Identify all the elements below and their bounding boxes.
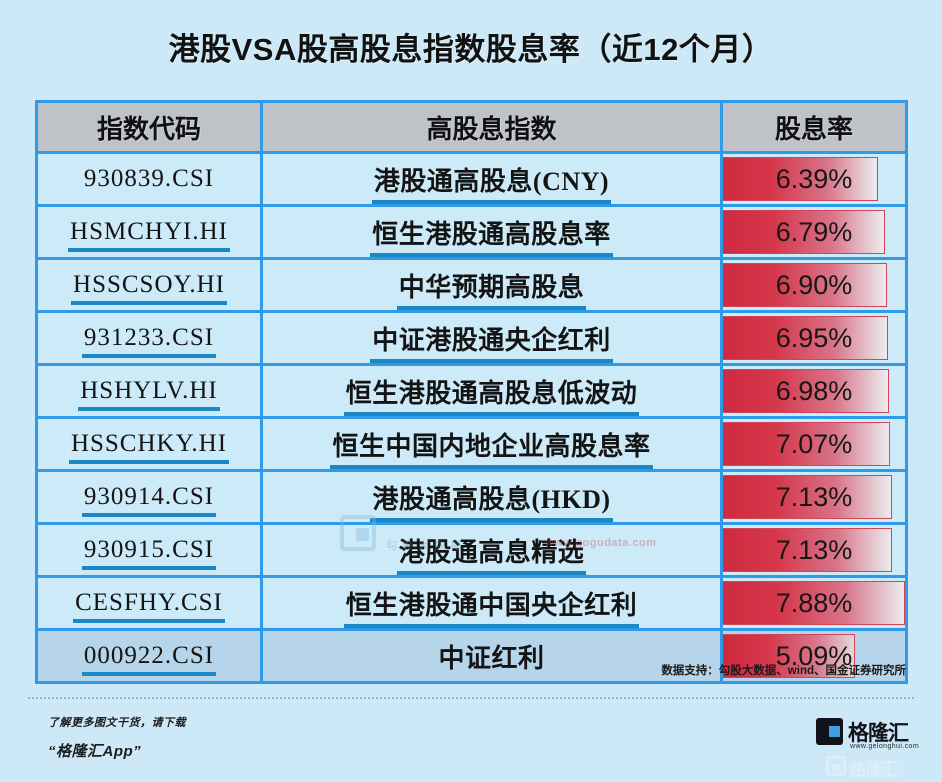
promo-line-1: 了解更多图文干货，请下载: [48, 714, 186, 730]
cell-index-code: HSHYLV.HI: [37, 365, 262, 418]
app-promo: 了解更多图文干货，请下载 “格隆汇App”: [48, 714, 186, 761]
table-row: HSSCHKY.HI恒生中国内地企业高股息率7.07%: [37, 418, 907, 471]
index-name-text: 中证红利: [438, 638, 544, 675]
footer-divider: [28, 697, 914, 699]
cell-index-name: 中证港股通央企红利: [262, 312, 722, 365]
index-code-text: HSSCHKY.HI: [71, 430, 227, 458]
index-code-text: CESFHY.CSI: [75, 589, 223, 617]
cell-index-code: 930915.CSI: [37, 524, 262, 577]
cell-dividend-yield: 7.88%: [722, 577, 907, 630]
index-name-text: 恒生中国内地企业高股息率: [332, 426, 650, 463]
cell-index-name: 中证红利: [262, 630, 722, 683]
index-code-text: 930914.CSI: [84, 483, 214, 511]
table-row: 000922.CSI中证红利5.09%: [37, 630, 907, 683]
column-header-index-name: 高股息指数: [262, 102, 722, 153]
table-row: 931233.CSI中证港股通央企红利6.95%: [37, 312, 907, 365]
dividend-yield-table: 指数代码 高股息指数 股息率 930839.CSI港股通高股息(CNY)6.39…: [35, 100, 905, 684]
gelonghui-logo-watermark: 格隆汇: [820, 756, 916, 782]
index-code-text: 930839.CSI: [84, 165, 214, 193]
column-header-dividend-yield: 股息率: [722, 102, 907, 153]
yield-value-text: 6.95%: [723, 313, 905, 363]
promo-line-2: “格隆汇App”: [48, 740, 186, 761]
cell-index-name: 恒生港股通中国央企红利: [262, 577, 722, 630]
cell-dividend-yield: 6.79%: [722, 206, 907, 259]
cell-index-code: 000922.CSI: [37, 630, 262, 683]
index-name-text: 恒生港股通高股息率: [372, 214, 611, 251]
cell-index-code: 931233.CSI: [37, 312, 262, 365]
yield-value-text: 7.07%: [723, 419, 905, 469]
yield-value-text: 7.88%: [723, 578, 905, 628]
yield-value-text: 7.13%: [723, 472, 905, 522]
cell-dividend-yield: 6.90%: [722, 259, 907, 312]
index-name-text: 中华预期高股息: [399, 267, 585, 304]
table-row: HSSCSOY.HI中华预期高股息6.90%: [37, 259, 907, 312]
cell-index-name: 中华预期高股息: [262, 259, 722, 312]
table-row: 930839.CSI港股通高股息(CNY)6.39%: [37, 153, 907, 206]
index-code-text: HSHYLV.HI: [80, 377, 218, 405]
cell-dividend-yield: 7.07%: [722, 418, 907, 471]
index-name-text: 恒生港股通高股息低波动: [346, 373, 638, 410]
cell-index-code: HSSCSOY.HI: [37, 259, 262, 312]
cell-dividend-yield: 6.95%: [722, 312, 907, 365]
yield-value-text: 6.79%: [723, 207, 905, 257]
table-body: 930839.CSI港股通高股息(CNY)6.39%HSMCHYI.HI恒生港股…: [37, 153, 907, 683]
yield-value-text: 6.98%: [723, 366, 905, 416]
cell-index-code: CESFHY.CSI: [37, 577, 262, 630]
cell-index-code: 930839.CSI: [37, 153, 262, 206]
page-title: 港股VSA股高股息指数股息率（近12个月）: [0, 24, 942, 69]
index-name-text: 恒生港股通中国央企红利: [346, 585, 638, 622]
index-code-text: 931233.CSI: [84, 324, 214, 352]
index-name-text: 港股通高股息(CNY): [374, 161, 609, 198]
cell-index-code: HSMCHYI.HI: [37, 206, 262, 259]
yield-value-text: 5.09%: [723, 631, 905, 681]
index-name-text: 港股通高股息(HKD): [372, 479, 610, 516]
table-header-row: 指数代码 高股息指数 股息率: [37, 102, 907, 153]
table-row: HSMCHYI.HI恒生港股通高股息率6.79%: [37, 206, 907, 259]
yield-value-text: 6.90%: [723, 260, 905, 310]
cell-dividend-yield: 7.13%: [722, 471, 907, 524]
index-code-text: 930915.CSI: [84, 536, 214, 564]
index-code-text: 000922.CSI: [84, 642, 214, 670]
cell-index-name: 港股通高股息(CNY): [262, 153, 722, 206]
gelonghui-logo-url: www.gelonghui.com: [850, 743, 919, 750]
yield-value-text: 6.39%: [723, 154, 905, 204]
gelonghui-watermark-g-icon: [826, 756, 846, 776]
index-code-text: HSSCSOY.HI: [73, 271, 225, 299]
cell-index-name: 恒生中国内地企业高股息率: [262, 418, 722, 471]
cell-dividend-yield: 6.39%: [722, 153, 907, 206]
cell-index-name: 恒生港股通高股息率: [262, 206, 722, 259]
index-name-text: 港股通高息精选: [399, 532, 585, 569]
column-header-index-code: 指数代码: [37, 102, 262, 153]
table-row: CESFHY.CSI恒生港股通中国央企红利7.88%: [37, 577, 907, 630]
cell-index-code: 930914.CSI: [37, 471, 262, 524]
gelonghui-watermark-name: 格隆汇: [850, 755, 898, 780]
table-row: 930915.CSI港股通高息精选7.13%: [37, 524, 907, 577]
index-code-text: HSMCHYI.HI: [70, 218, 228, 246]
cell-dividend-yield: 7.13%: [722, 524, 907, 577]
cell-dividend-yield: 6.98%: [722, 365, 907, 418]
cell-index-name: 港股通高息精选: [262, 524, 722, 577]
table-row: HSHYLV.HI恒生港股通高股息低波动6.98%: [37, 365, 907, 418]
cell-index-name: 港股通高股息(HKD): [262, 471, 722, 524]
cell-index-name: 恒生港股通高股息低波动: [262, 365, 722, 418]
index-name-text: 中证港股通央企红利: [372, 320, 611, 357]
yield-value-text: 7.13%: [723, 525, 905, 575]
gelonghui-g-icon: [816, 718, 843, 745]
table-row: 930914.CSI港股通高股息(HKD)7.13%: [37, 471, 907, 524]
cell-index-code: HSSCHKY.HI: [37, 418, 262, 471]
cell-dividend-yield: 5.09%: [722, 630, 907, 683]
gelonghui-logo: 格隆汇 www.gelonghui.com: [816, 718, 912, 754]
